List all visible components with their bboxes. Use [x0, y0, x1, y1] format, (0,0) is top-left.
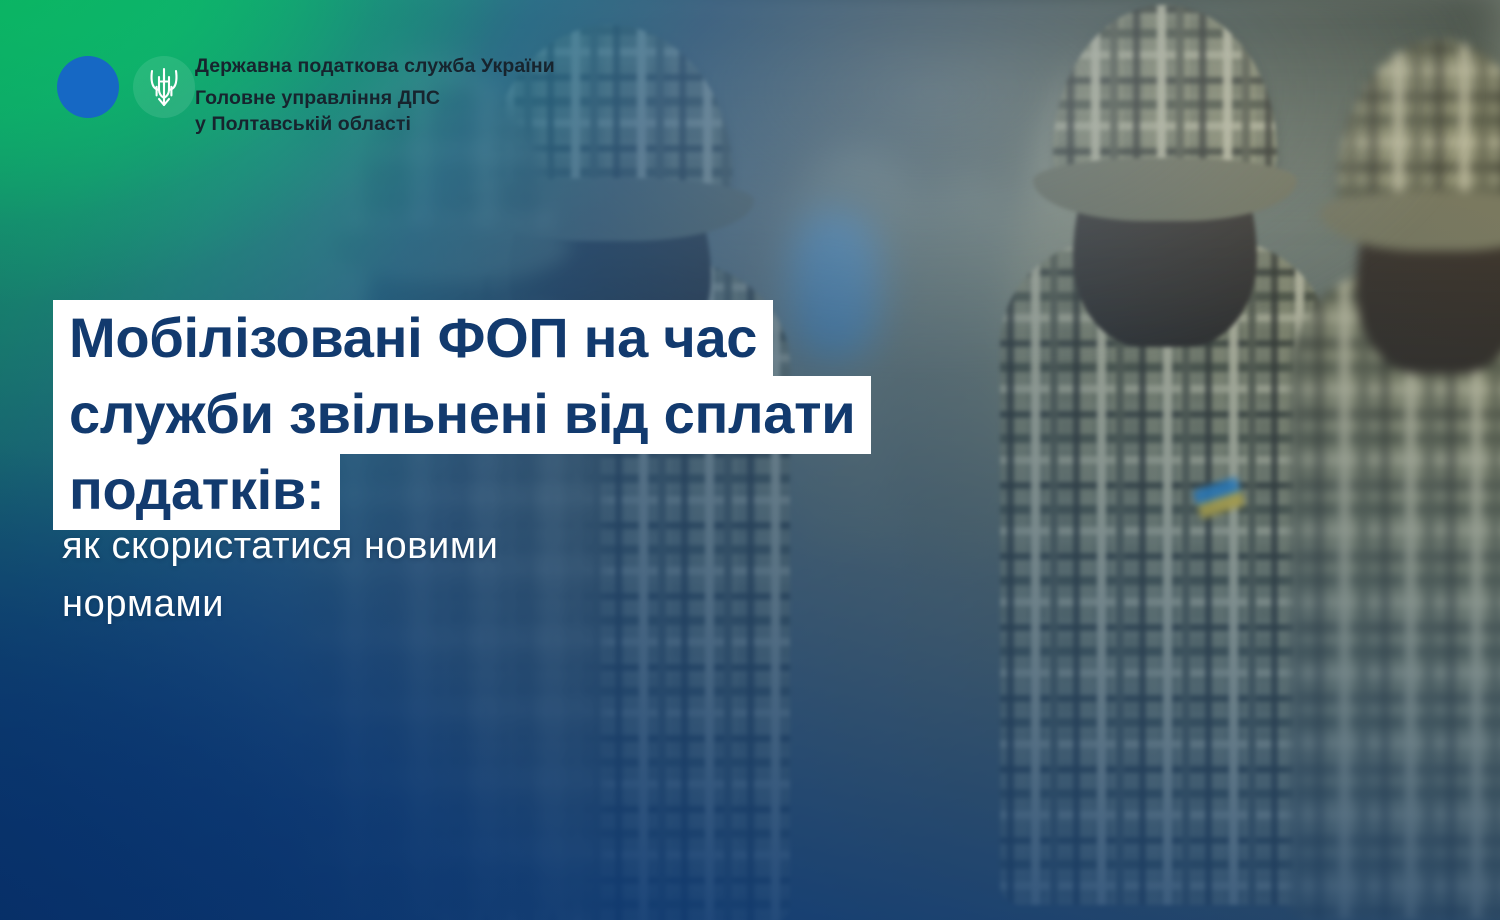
news-banner: Державна податкова служба України Головн… — [0, 0, 1500, 920]
ukraine-trident-icon — [146, 65, 182, 109]
brand-header: Державна податкова служба України Головн… — [55, 50, 555, 137]
org-name-line-1: Державна податкова служба України — [195, 54, 555, 79]
logo-lockup — [55, 50, 195, 132]
blue-circle-logo-mark — [57, 56, 119, 118]
subtitle-line: нормами — [62, 576, 822, 634]
trident-disc — [133, 56, 195, 118]
brand-header-text: Державна податкова служба України Головн… — [195, 50, 555, 137]
subtitle-block: як скористатися новими нормами — [62, 518, 822, 634]
headline-block: Мобілізовані ФОП на час служби звільнені… — [53, 300, 1033, 530]
headline-line: служби звільнені від сплати — [53, 376, 871, 454]
subtitle-line: як скористатися новими — [62, 518, 822, 576]
org-name-line-2: Головне управління ДПС — [195, 86, 555, 112]
headline-line: Мобілізовані ФОП на час — [53, 300, 773, 378]
org-name-line-3: у Полтавській області — [195, 112, 555, 138]
